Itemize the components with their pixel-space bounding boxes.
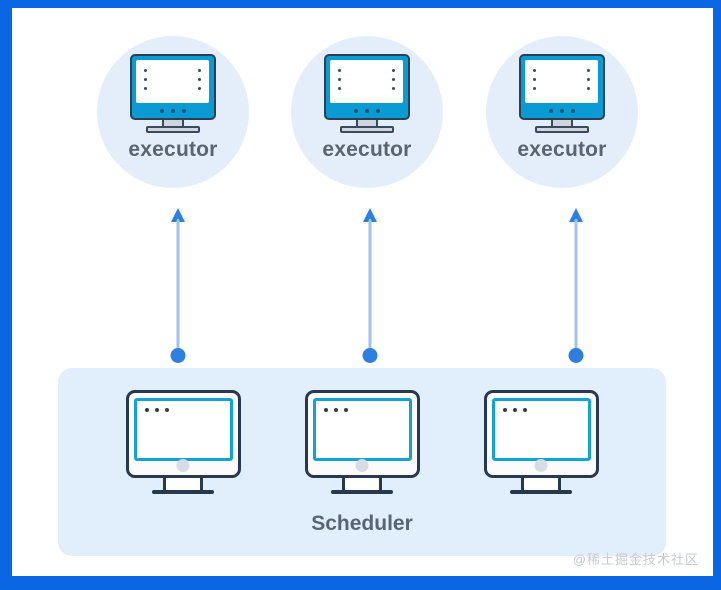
watermark-text: @稀土掘金技术社区: [573, 549, 699, 568]
diagram-page: executor: [12, 8, 713, 576]
scheduler-label: Scheduler: [58, 512, 666, 536]
monitor-frame: [130, 54, 216, 120]
screen-dots-left: [338, 69, 341, 90]
monitor-base: [535, 126, 589, 133]
scheduler-panel: Scheduler: [58, 368, 666, 556]
monitor-screen: [136, 60, 209, 103]
arrow-tail-dot: [363, 348, 378, 363]
monitor-icon: [130, 54, 216, 132]
executor-label: executor: [322, 138, 411, 162]
arrow-stem: [575, 219, 578, 356]
executor-node-3: executor: [486, 36, 638, 188]
arrow-tail-dot: [569, 348, 584, 363]
monitor-base: [510, 490, 572, 494]
executor-label: executor: [517, 138, 606, 162]
screen-dots-right: [392, 69, 395, 90]
diagram-canvas: executor: [0, 0, 721, 590]
arrow-stem: [369, 219, 372, 356]
monitor-base: [331, 490, 393, 494]
monitor-power-dot: [535, 459, 548, 472]
desktop-monitor-icon: [484, 390, 599, 478]
screen-dots-left: [533, 69, 536, 90]
arrow-tail-dot: [171, 348, 186, 363]
scheduler-monitor-1: [126, 390, 241, 497]
arrow-up-icon: [569, 208, 583, 356]
screen-dots-left: [144, 69, 147, 90]
monitor-screen: [134, 398, 233, 461]
scheduler-node-row: [58, 390, 666, 497]
monitor-screen: [330, 60, 403, 103]
window-dots: [324, 408, 348, 412]
monitor-power-dot: [356, 459, 369, 472]
desktop-monitor-icon: [126, 390, 241, 478]
monitor-icon: [324, 54, 410, 132]
monitor-base: [340, 126, 394, 133]
monitor-frame: [519, 54, 605, 120]
executor-node-1: executor: [97, 36, 249, 188]
scheduler-monitor-3: [484, 390, 599, 497]
desktop-monitor-icon: [305, 390, 420, 478]
window-dots: [145, 408, 169, 412]
monitor-frame: [324, 54, 410, 120]
scheduler-monitor-2: [305, 390, 420, 497]
screen-dots-right: [198, 69, 201, 90]
monitor-base: [152, 490, 214, 494]
executor-label: executor: [128, 138, 217, 162]
monitor-power-dot: [177, 459, 190, 472]
screen-dots-right: [587, 69, 590, 90]
monitor-base: [146, 126, 200, 133]
monitor-screen: [313, 398, 412, 461]
monitor-screen: [492, 398, 591, 461]
arrow-stem: [177, 219, 180, 356]
monitor-icon: [519, 54, 605, 132]
arrow-up-icon: [363, 208, 377, 356]
executor-node-2: executor: [291, 36, 443, 188]
bezel-dots: [326, 109, 408, 113]
bezel-dots: [132, 109, 214, 113]
bezel-dots: [521, 109, 603, 113]
window-dots: [503, 408, 527, 412]
arrow-up-icon: [171, 208, 185, 356]
monitor-screen: [525, 60, 598, 103]
